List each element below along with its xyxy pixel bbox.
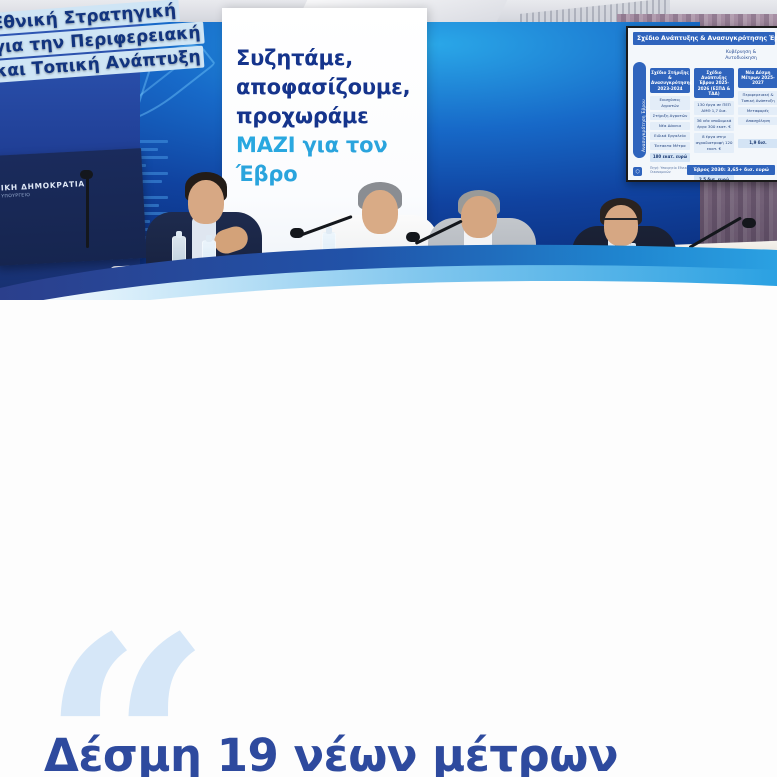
screen-col3-header: Νέα Δέσμη Μέτρων 2025-2027 (738, 68, 777, 88)
screen-logo-icon: ⬡ (633, 167, 642, 176)
screen-col1-cell: Έκτακτα Μέτρα (650, 142, 690, 150)
screen-col1-cell: Ειδικά Εργαλεία (650, 132, 690, 140)
microphone-head (742, 218, 756, 228)
podium-line-1: ΙΚΗ ΔΗΜΟΚΡΑΤΙΑ (1, 179, 85, 192)
screen-sidebar-label: Ανασυγκρότηση Έβρου (642, 99, 647, 152)
screen-sidebar: Ανασυγκρότηση Έβρου (633, 62, 646, 158)
center-banner-for: για τον (295, 133, 387, 157)
panelist-3-head (461, 196, 497, 238)
center-banner-evros: Έβρο (236, 162, 297, 186)
quote-headline: Δέσμη 19 νέων μέτρων για τη στήριξη του … (44, 724, 764, 777)
screen-col2-cell: 8 έργα στην αγροδιατροφή 120 εκατ. € (694, 133, 734, 153)
center-banner-line-1: Συζητάμε, (236, 44, 426, 73)
screen-col2-total: 2,5 δισ. ευρώ (694, 175, 734, 182)
screen-footer-total: Έβρος 2030: 3,65+ δισ. ευρώ (687, 165, 775, 175)
screen-col1-cell: Ενισχύσεις Αγροτών (650, 96, 690, 110)
curve-divider (0, 236, 777, 300)
screen-col1-cell: Στήριξη Αγροτών (650, 112, 690, 120)
panelist-4-glasses-icon (603, 218, 639, 227)
center-banner-mazi: ΜΑΖΙ (236, 133, 295, 157)
screen-title: Σχέδιο Ανάπτυξης & Ανασυγκρότησης Έβρου (633, 32, 775, 45)
center-banner-line-3: προχωράμε (236, 102, 426, 131)
screen-col1-header: Σχέδιο Στήριξης & Ανασυγκρότησης 2023-20… (650, 68, 690, 93)
left-banner: Εθνική Στρατηγική για την Περιφερειακή κ… (0, 0, 222, 134)
screen-col2-cell: 130 έργα σε ΠΕΠ ΑΜΘ 1,7 δισ. (694, 101, 734, 115)
screen-col3-cell: Απασχόληση (738, 117, 777, 125)
screen-col3-cell: Μεταφορές (738, 107, 777, 115)
quote-line-1: Δέσμη 19 νέων μέτρων (44, 724, 764, 777)
screen-gov-label: Κυβέρνηση & Αυτοδιοίκηση (711, 50, 771, 62)
panelist-2-head (362, 190, 398, 234)
screen-col3-cell: Περιφερειακή & Τοπική Ανάπτυξη (738, 91, 777, 105)
screen-col3-total: 1,9 δισ. (738, 139, 777, 148)
center-banner-line-2: αποφασίζουμε, (236, 73, 426, 102)
quote-section: “ Δέσμη 19 νέων μέτρων για τη στήριξη το… (0, 300, 777, 777)
quote-card: Εθνική Στρατηγική για την Περιφερειακή κ… (0, 0, 777, 777)
panelist-1-head (188, 180, 224, 224)
screen-col1-total: 180 εκατ. ευρώ (650, 153, 690, 162)
screen-col2-header: Σχέδιο Ανάπτυξης Έβρου 2025-2026 (ΕΣΠΑ &… (694, 68, 734, 98)
microphone-head (80, 170, 93, 179)
presentation-screen: Σχέδιο Ανάπτυξης & Ανασυγκρότησης Έβρου … (626, 26, 777, 182)
screen-col1-cell: Νέα Δάνεια (650, 122, 690, 130)
press-conference-photo: Εθνική Στρατηγική για την Περιφερειακή κ… (0, 0, 777, 300)
podium-line-2: ΥΠΟΥΡΓΕΙΟ (1, 193, 30, 200)
screen-col2-cell: 36 νέα υποδομικά έργα 300 εκατ. € (694, 117, 734, 131)
